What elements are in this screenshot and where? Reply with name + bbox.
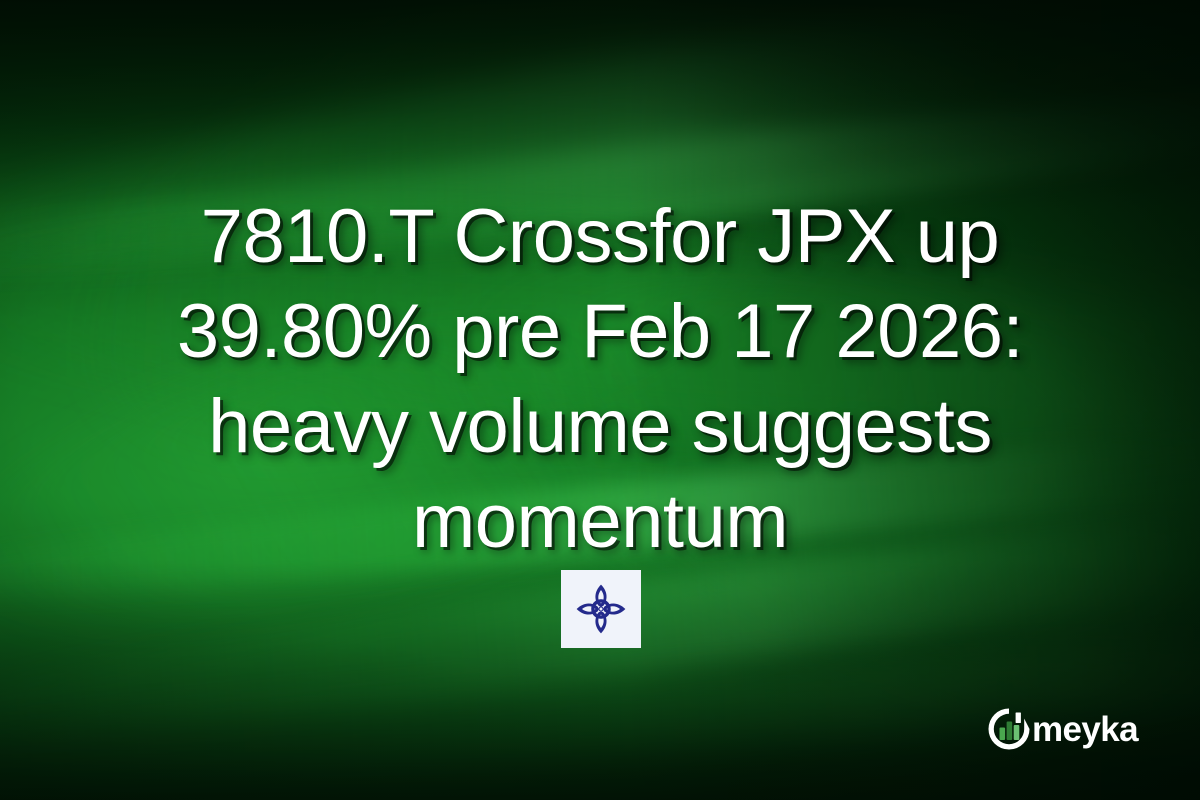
card-content: 7810.T Crossfor JPX up 39.80% pre Feb 17… [0, 0, 1200, 800]
emblem-badge [561, 570, 641, 648]
headline-text: 7810.T Crossfor JPX up 39.80% pre Feb 17… [0, 189, 1200, 569]
brand-logo[interactable]: meyka [986, 706, 1138, 752]
social-share-card: 7810.T Crossfor JPX up 39.80% pre Feb 17… [0, 0, 1200, 800]
brand-name-text: meyka [1032, 712, 1138, 747]
four-petal-emblem-icon [561, 570, 641, 648]
meyka-circle-bars-logo-icon [986, 706, 1032, 752]
